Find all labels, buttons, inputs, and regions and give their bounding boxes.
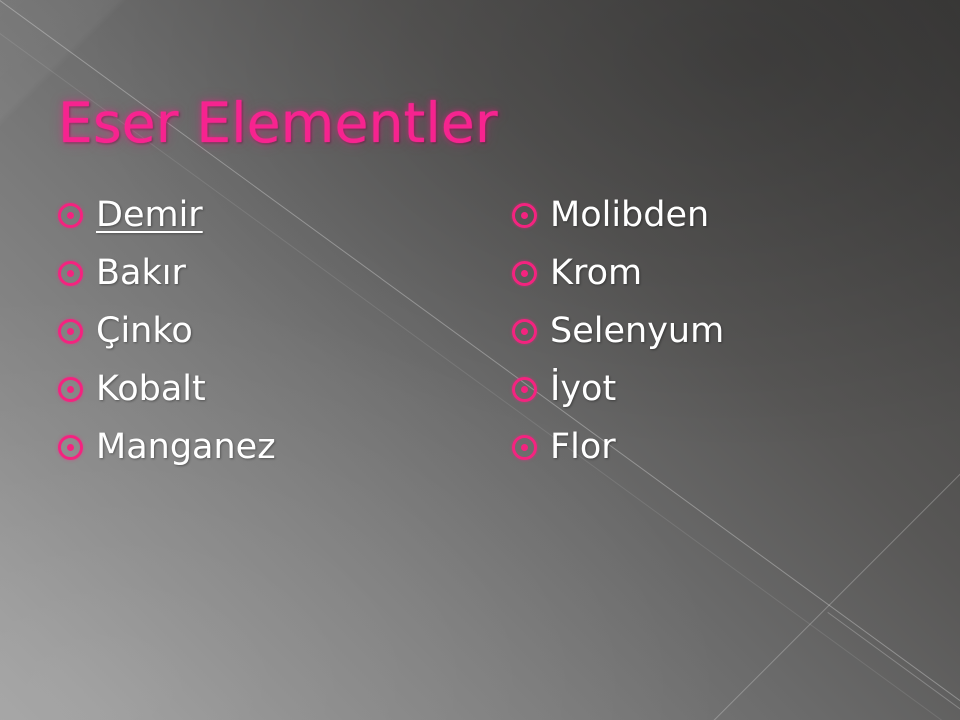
bullseye-bullet-icon: [512, 319, 537, 344]
right-column: Molibden Krom Selenyum İyot Flor: [460, 186, 920, 476]
background-diagonal-line-cross-tail: [827, 612, 960, 720]
bullseye-bullet-icon: [512, 203, 537, 228]
list-item[interactable]: İyot: [512, 360, 920, 418]
list-item-label: Krom: [550, 256, 642, 291]
list-item[interactable]: Çinko: [58, 302, 460, 360]
list-item-label: İyot: [550, 372, 616, 407]
list-item-label: Bakır: [96, 256, 186, 291]
bullseye-bullet-icon: [58, 377, 83, 402]
list-item-label: Kobalt: [96, 372, 206, 407]
list-item-label: Çinko: [96, 314, 193, 349]
bullseye-bullet-icon: [58, 203, 83, 228]
list-item[interactable]: Kobalt: [58, 360, 460, 418]
slide-content: Demir Bakır Çinko Kobalt Manganez: [0, 186, 960, 476]
list-item[interactable]: Krom: [512, 244, 920, 302]
bullseye-bullet-icon: [512, 261, 537, 286]
bullseye-bullet-icon: [512, 435, 537, 460]
left-column: Demir Bakır Çinko Kobalt Manganez: [0, 186, 460, 476]
bullseye-bullet-icon: [58, 261, 83, 286]
list-item[interactable]: Molibden: [512, 186, 920, 244]
left-bullet-list: Demir Bakır Çinko Kobalt Manganez: [58, 186, 460, 476]
list-item-label: Flor: [550, 430, 616, 465]
list-item[interactable]: Selenyum: [512, 302, 920, 360]
bullseye-bullet-icon: [512, 377, 537, 402]
slide-title: Eser Elementler: [58, 93, 908, 154]
list-item-label: Molibden: [550, 198, 709, 233]
presentation-slide: Eser Elementler Demir Bakır Çinko Kob: [0, 0, 960, 720]
bullseye-bullet-icon: [58, 319, 83, 344]
list-item-label: Selenyum: [550, 314, 724, 349]
list-item[interactable]: Demir: [58, 186, 460, 244]
list-item[interactable]: Flor: [512, 418, 920, 476]
list-item[interactable]: Bakır: [58, 244, 460, 302]
bullseye-bullet-icon: [58, 435, 83, 460]
list-item[interactable]: Manganez: [58, 418, 460, 476]
list-item-label: Manganez: [96, 430, 276, 465]
list-item-label[interactable]: Demir: [96, 198, 203, 233]
right-bullet-list: Molibden Krom Selenyum İyot Flor: [512, 186, 920, 476]
